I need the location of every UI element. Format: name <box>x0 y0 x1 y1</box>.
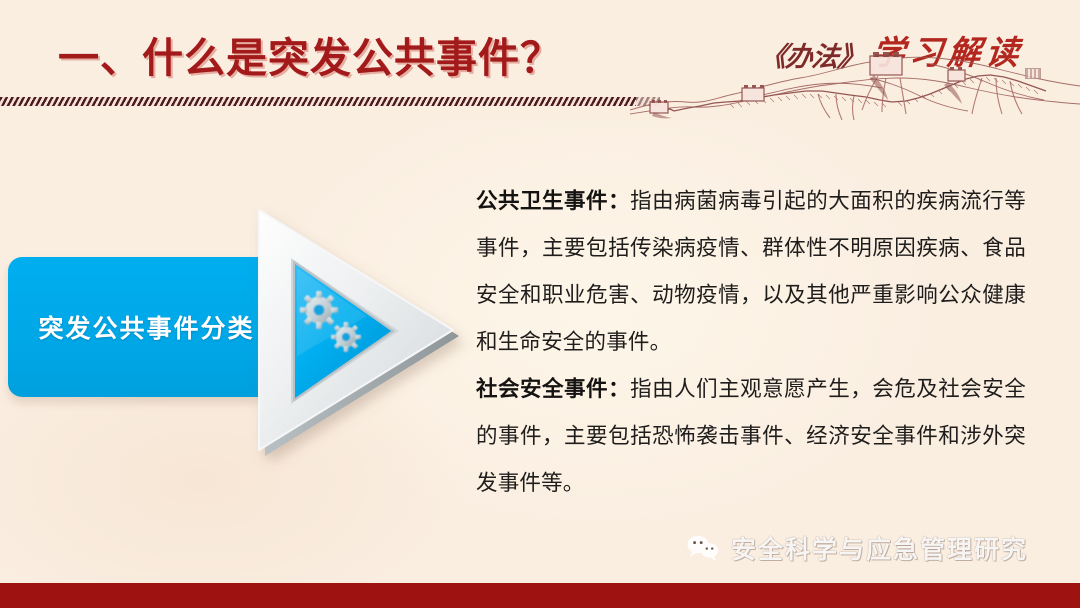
category-label-chip[interactable]: 突发公共事件分类 <box>8 257 273 397</box>
page-title: 一、什么是突发公共事件？ <box>58 24 562 84</box>
hatched-divider <box>0 97 636 106</box>
play-triangle-shape[interactable] <box>247 190 477 480</box>
paragraph-text-public-health: 指由病菌病毒引起的大面积的疾病流行等事件，主要包括传染病疫情、群体性不明原因疾病… <box>476 189 1026 354</box>
great-wall-line-drawing <box>630 48 1080 120</box>
footer-bar <box>0 583 1080 608</box>
watermark-text: 安全科学与应急管理研究 <box>731 530 1028 566</box>
red-seal-stamp <box>1025 68 1041 79</box>
paragraph-lead-public-health: 公共卫生事件： <box>476 189 630 213</box>
slide-canvas: 一、什么是突发公共事件？ 《办法》 学习解读 <box>0 0 1080 608</box>
gear-large-icon <box>300 291 338 329</box>
watermark: 安全科学与应急管理研究 <box>686 530 1028 566</box>
paragraph-public-health: 公共卫生事件：指由病菌病毒引起的大面积的疾病流行等事件，主要包括传染病疫情、群体… <box>476 178 1026 366</box>
paragraph-social-security: 社会安全事件：指由人们主观意愿产生，会危及社会安全的事件，主要包括恐怖袭击事件、… <box>476 366 1026 507</box>
wechat-icon <box>686 533 720 563</box>
content-body: 公共卫生事件：指由病菌病毒引起的大面积的疾病流行等事件，主要包括传染病疫情、群体… <box>476 178 1026 507</box>
category-label-text: 突发公共事件分类 <box>26 309 254 345</box>
paragraph-lead-social-security: 社会安全事件： <box>476 377 630 401</box>
gear-small-icon <box>331 322 361 352</box>
